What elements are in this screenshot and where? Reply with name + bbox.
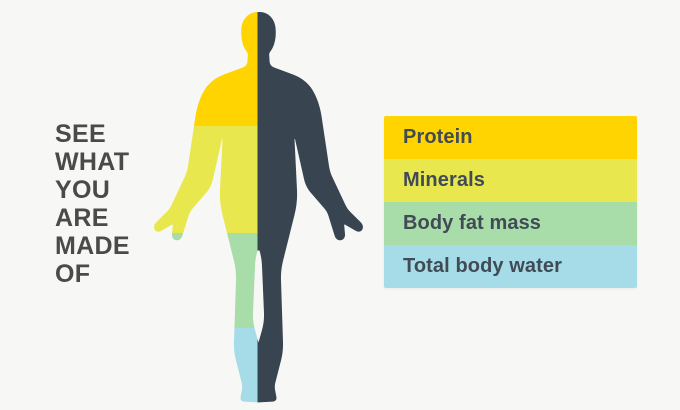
legend-label-minerals: Minerals (403, 169, 485, 192)
legend-label-protein: Protein (403, 126, 473, 149)
legend-row-protein[interactable]: Protein (384, 116, 637, 159)
legend-row-body-fat-mass[interactable]: Body fat mass (384, 202, 637, 245)
infographic-canvas: SEE WHAT YOU ARE MADE OF (0, 0, 680, 410)
legend-row-total-body-water[interactable]: Total body water (384, 245, 637, 288)
body-silhouette-icon (150, 8, 365, 404)
human-body-figure (150, 8, 365, 404)
legend-row-minerals[interactable]: Minerals (384, 159, 637, 202)
legend-label-body-fat-mass: Body fat mass (403, 212, 541, 235)
legend-label-total-body-water: Total body water (403, 255, 562, 278)
body-left-half-bands (150, 8, 365, 404)
body-composition-legend: Protein Minerals Body fat mass Total bod… (384, 116, 637, 288)
